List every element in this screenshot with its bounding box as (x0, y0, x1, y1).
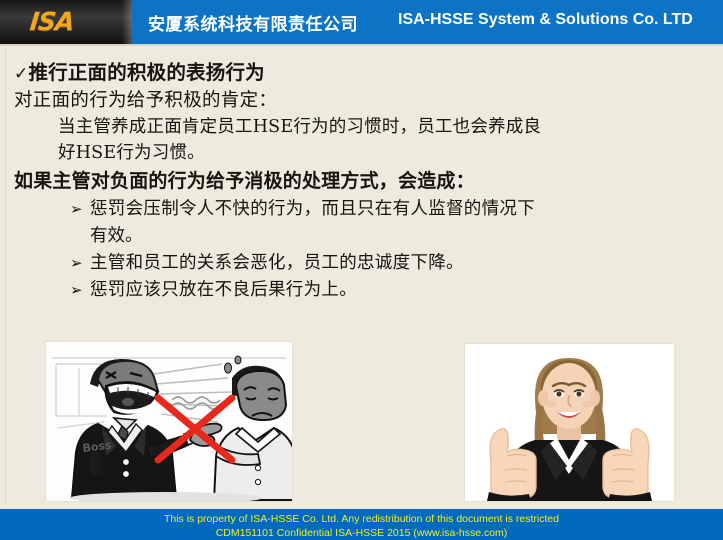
subtitle-line: 对正面的行为给予积极的肯定： (14, 87, 714, 114)
header-title-chinese: 安厦系统科技有限责任公司 (148, 10, 358, 35)
slide-footer: This is property of ISA-HSSE Co. Ltd. An… (0, 509, 723, 540)
cartoon-illustration: Boss (46, 342, 292, 501)
list-item-label: 惩罚应该只放在不良后果行为上。 (90, 277, 714, 304)
paragraph-line-1: 当主管养成正面肯定员工HSE行为的习惯时，员工也会养成良 (14, 114, 714, 140)
sub-heading-text: 如果主管对负面的行为给予消极的处理方式，会造成： (14, 166, 714, 196)
isa-logo-icon: ISA (28, 7, 75, 36)
header-title-english: ISA-HSSE System & Solutions Co. LTD (398, 11, 693, 29)
slide-body: ✓推行正面的积极的表扬行为 对正面的行为给予积极的肯定： 当主管养成正面肯定员工… (14, 60, 714, 304)
arrow-bullet-icon: ➢ (70, 277, 90, 304)
photo-illustration (465, 344, 674, 501)
logo-panel: ISA (0, 0, 132, 44)
footer-copyright-line-2: CDM151101 Confidential ISA-HSSE 2015 (ww… (0, 526, 723, 540)
footer-copyright-line-1: This is property of ISA-HSSE Co. Ltd. An… (0, 509, 723, 526)
list-item-continuation: 有效。 (14, 223, 714, 250)
header-divider (0, 44, 723, 46)
paragraph-line-2: 好HSE行为习惯。 (14, 140, 714, 166)
boss-shouting-cartoon-image: Boss (45, 341, 293, 502)
list-item: ➢ 惩罚应该只放在不良后果行为上。 (14, 277, 714, 304)
list-item: ➢ 惩罚会压制令人不快的行为，而且只在有人监督的情况下 (14, 196, 714, 223)
list-item-label: 主管和员工的关系会恶化，员工的忠诚度下降。 (90, 250, 714, 277)
arrow-bullet-icon: ➢ (70, 250, 90, 277)
arrow-bullet-icon: ➢ (70, 196, 90, 223)
check-icon: ✓ (14, 64, 28, 84)
heading-text: 推行正面的积极的表扬行为 (28, 61, 264, 84)
left-margin-rule (5, 48, 6, 503)
slide-canvas: ISA 安厦系统科技有限责任公司 ISA-HSSE System & Solut… (0, 0, 723, 540)
heading-row: ✓推行正面的积极的表扬行为 (14, 60, 714, 87)
businesswoman-thumbs-up-image (464, 343, 675, 502)
list-item-label: 惩罚会压制令人不快的行为，而且只在有人监督的情况下 (90, 196, 714, 223)
slide-header: ISA 安厦系统科技有限责任公司 ISA-HSSE System & Solut… (0, 0, 723, 44)
list-item: ➢ 主管和员工的关系会恶化，员工的忠诚度下降。 (14, 250, 714, 277)
